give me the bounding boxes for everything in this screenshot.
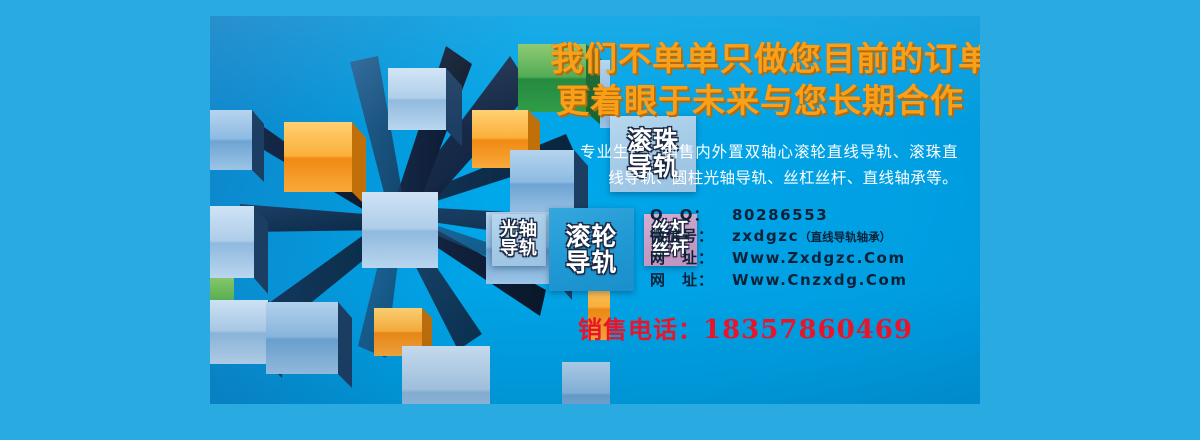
contact-value[interactable]: Www.Zxdgzc.Com — [732, 248, 906, 270]
cube-blue-right-lowest — [562, 362, 610, 404]
cube-blue-far-left — [210, 110, 264, 182]
contact-row-wechat: 微信号： zxdgzc （直线导轨轴承） — [650, 226, 970, 248]
contact-row-website-1: 网 址： Www.Zxdgzc.Com — [650, 248, 970, 270]
product-chip-optical-shaft-guide: 光轴 导轨 — [492, 214, 546, 266]
cube-blue-low-mid — [266, 302, 352, 388]
contact-note: （直线导轨轴承） — [799, 229, 891, 246]
headline-line-1: 我们不单单只做您目前的订单 — [550, 38, 970, 80]
headline-line-2: 更着眼于未来与您长期合作 — [550, 80, 970, 122]
cube-blue-bottom-big — [402, 346, 490, 404]
promo-banner: 滚珠 导轨 光轴 导轨 滚轮 导轨 丝杠 丝杆 我们不单单只做您目前的订单 更着… — [210, 16, 980, 404]
sales-phone-label: 销售电话： — [578, 316, 703, 344]
contact-label: 网 址： — [650, 270, 732, 292]
cube-orange-left — [284, 122, 366, 206]
cube-blue-center-left — [362, 192, 438, 268]
sales-phone-block: 销售电话：18357860469 — [550, 310, 970, 345]
contact-block: Q Q： 80286553 微信号： zxdgzc （直线导轨轴承） 网 址： … — [550, 205, 970, 292]
contact-value[interactable]: 80286553 — [732, 205, 828, 227]
contact-row-website-2: 网 址： Www.Cnzxdg.Com — [650, 270, 970, 292]
contact-value[interactable]: Www.Cnzxdg.Com — [732, 270, 908, 292]
contact-row-qq: Q Q： 80286553 — [650, 205, 970, 227]
contact-value[interactable]: zxdgzc — [732, 226, 799, 248]
product-chip-line2: 导轨 — [500, 240, 538, 259]
sales-phone-number[interactable]: 18357860469 — [703, 315, 913, 345]
contact-label: Q Q： — [650, 205, 732, 227]
contact-label: 网 址： — [650, 248, 732, 270]
body-copy: 专业生产、销售内外置双轴心滚轮直线导轨、滚珠直线导轨、圆柱光轴导轨、丝杠丝杆、直… — [550, 140, 970, 190]
contact-label: 微信号： — [650, 226, 732, 248]
banner-copy-column: 我们不单单只做您目前的订单 更着眼于未来与您长期合作 专业生产、销售内外置双轴心… — [550, 38, 970, 345]
